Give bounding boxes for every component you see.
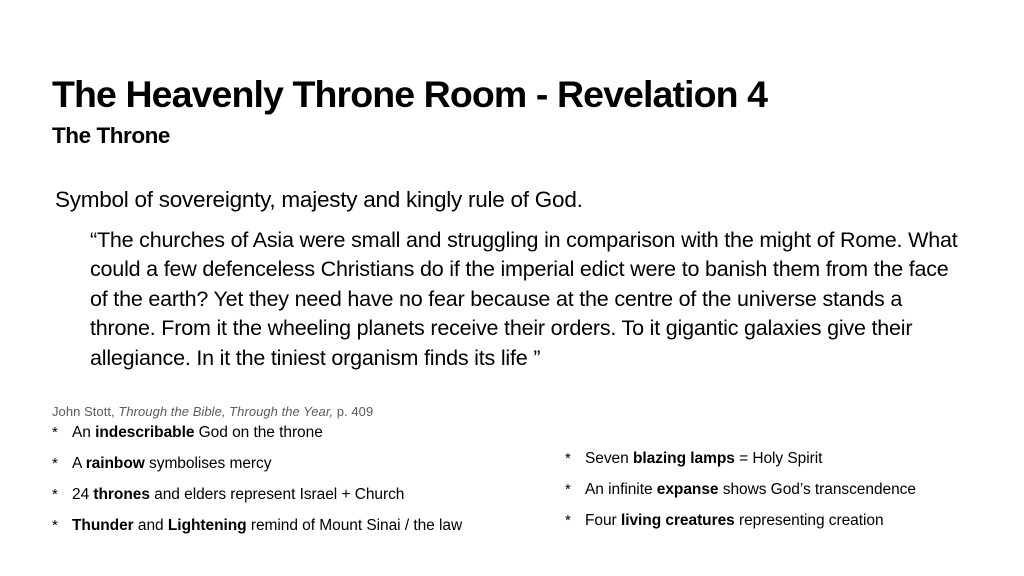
slide-title: The Heavenly Throne Room - Revelation 4 [52, 76, 767, 114]
quote-attribution: John Stott, Through the Bible, Through t… [52, 405, 373, 418]
emphasis-term: expanse [657, 481, 719, 498]
asterisk-bullet-icon: * [52, 487, 72, 502]
attribution-author: John Stott, [52, 404, 118, 419]
text-prefix: A [72, 455, 86, 472]
list-item-text: Thunder and Lightening remind of Mount S… [72, 518, 462, 534]
text-suffix: and elders represent Israel + Church [150, 486, 404, 503]
list-item-text: An infinite expanse shows God’s transcen… [585, 482, 916, 498]
text-prefix: Four [585, 512, 621, 529]
text-prefix: An [72, 424, 95, 441]
list-item-text: 24 thrones and elders represent Israel +… [72, 487, 404, 503]
asterisk-bullet-icon: * [52, 518, 72, 533]
text-prefix: 24 [72, 486, 93, 503]
lead-statement: Symbol of sovereignty, majesty and kingl… [55, 189, 583, 212]
emphasis-term-secondary: Lightening [168, 517, 247, 534]
emphasis-term: thrones [93, 486, 150, 503]
presentation-slide: The Heavenly Throne Room - Revelation 4 … [0, 0, 1024, 576]
list-item: * Four living creatures representing cre… [565, 513, 1010, 544]
list-item-text: Four living creatures representing creat… [585, 513, 884, 529]
text-suffix: shows God’s transcendence [718, 481, 915, 498]
asterisk-bullet-icon: * [565, 482, 585, 497]
emphasis-term: indescribable [95, 424, 194, 441]
list-item: * Seven blazing lamps = Holy Spirit [565, 451, 1010, 482]
bullet-list-left: * An indescribable God on the throne * A… [52, 425, 552, 549]
text-suffix: representing creation [735, 512, 884, 529]
bullet-list-right: * Seven blazing lamps = Holy Spirit * An… [565, 451, 1010, 544]
text-prefix: An infinite [585, 481, 657, 498]
emphasis-term: living creatures [621, 512, 735, 529]
text-suffix: symbolises mercy [145, 455, 272, 472]
list-item-text: Seven blazing lamps = Holy Spirit [585, 451, 822, 467]
asterisk-bullet-icon: * [52, 456, 72, 471]
text-suffix: = Holy Spirit [735, 450, 823, 467]
text-prefix: Seven [585, 450, 633, 467]
list-item: * A rainbow symbolises mercy [52, 456, 552, 487]
text-suffix: remind of Mount Sinai / the law [247, 517, 463, 534]
list-item: * Thunder and Lightening remind of Mount… [52, 518, 552, 549]
asterisk-bullet-icon: * [52, 425, 72, 440]
text-middle: and [134, 517, 168, 534]
asterisk-bullet-icon: * [565, 513, 585, 528]
list-item: * An indescribable God on the throne [52, 425, 552, 456]
list-item-text: An indescribable God on the throne [72, 425, 323, 441]
list-item: * 24 thrones and elders represent Israel… [52, 487, 552, 518]
slide-subtitle: The Throne [52, 125, 170, 148]
emphasis-term: Thunder [72, 517, 134, 534]
emphasis-term: blazing lamps [633, 450, 735, 467]
text-suffix: God on the throne [194, 424, 322, 441]
block-quote: “The churches of Asia were small and str… [90, 226, 968, 374]
emphasis-term: rainbow [86, 455, 145, 472]
list-item-text: A rainbow symbolises mercy [72, 456, 271, 472]
attribution-page: p. 409 [333, 404, 373, 419]
asterisk-bullet-icon: * [565, 451, 585, 466]
attribution-work-title: Through the Bible, Through the Year, [118, 404, 333, 419]
list-item: * An infinite expanse shows God’s transc… [565, 482, 1010, 513]
